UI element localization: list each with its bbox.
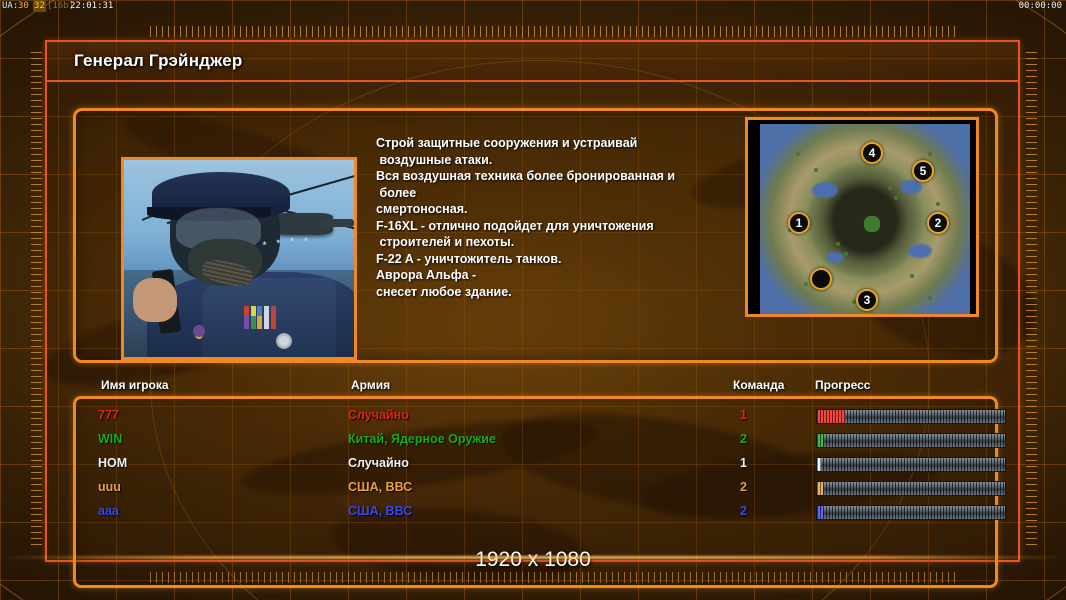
desc-line: Аврора Альфа - [376, 267, 796, 284]
desc-line: смертоносная. [376, 201, 796, 218]
table-row[interactable]: uuu США, ВВС 2 [76, 477, 995, 501]
map-spawn-marker[interactable]: 4 [861, 142, 883, 164]
desc-line: более [376, 185, 796, 202]
footer-glow-divider [0, 556, 1066, 559]
status-timer: 00:00:00 [1019, 0, 1062, 12]
player-name: WIN [98, 432, 122, 446]
ruler-right [1026, 52, 1037, 548]
map-preview[interactable]: 1 2 3 4 5 [745, 117, 979, 317]
player-army: США, ВВС [348, 480, 412, 494]
resolution-bar: 1920 x 1080 [0, 548, 1066, 578]
player-team: 2 [740, 480, 747, 494]
column-header-team: Команда [733, 378, 784, 392]
player-table-header: Имя игрока Армия Команда Прогресс [73, 374, 998, 396]
player-team: 2 [740, 432, 747, 446]
status-bar: UA: 30 32 [16b] 22:01:31 00:00:00 [0, 0, 1066, 12]
player-progress-bar [816, 433, 1006, 448]
status-clock: 22:01:31 [70, 0, 113, 12]
table-row[interactable]: aaa США, ВВС 2 [76, 501, 995, 525]
player-name: HOM [98, 456, 127, 470]
desc-line: Строй защитные сооружения и устраивай [376, 135, 796, 152]
table-row[interactable]: 777 Случайно 1 [76, 405, 995, 429]
ruler-left [31, 52, 42, 548]
desc-line: F-22 A - уничтожитель танков. [376, 251, 796, 268]
desc-line: воздушные атаки. [376, 152, 796, 169]
general-description: Строй защитные сооружения и устраивай во… [376, 135, 796, 300]
player-army: Случайно [348, 408, 409, 422]
map-spawn-marker[interactable]: 3 [856, 289, 878, 311]
map-spawn-marker[interactable]: 1 [788, 212, 810, 234]
player-progress-bar [816, 457, 1006, 472]
desc-line: Вся воздушная техника более бронированна… [376, 168, 796, 185]
player-name: aaa [98, 504, 119, 518]
player-team: 2 [740, 504, 747, 518]
column-header-progress: Прогресс [815, 378, 870, 392]
status-value-a: 30 [18, 0, 29, 12]
player-army: США, ВВС [348, 504, 412, 518]
general-info-panel: Строй защитные сооружения и устраивай во… [73, 108, 998, 363]
title-bar: Генерал Грэйнджер [47, 42, 1018, 82]
map-spawn-marker[interactable]: 5 [912, 160, 934, 182]
map-terrain: 1 2 3 4 5 [760, 124, 970, 316]
player-progress-bar [816, 481, 1006, 496]
player-army: Китай, Ядерное Оружие [348, 432, 496, 446]
table-row[interactable]: HOM Случайно 1 [76, 453, 995, 477]
player-name: 777 [98, 408, 119, 422]
desc-line: F-16XL - отлично подойдет для уничтожени… [376, 218, 796, 235]
player-army: Случайно [348, 456, 409, 470]
map-spawn-marker[interactable]: 2 [927, 212, 949, 234]
column-header-army: Армия [351, 378, 390, 392]
player-progress-bar [816, 505, 1006, 520]
page-title: Генерал Грэйнджер [74, 51, 242, 71]
player-name: uuu [98, 480, 121, 494]
status-label: UA: [2, 0, 18, 12]
player-team: 1 [740, 408, 747, 422]
lobby-frame: Генерал Грэйнджер [45, 40, 1020, 562]
desc-line: снесет любое здание. [376, 284, 796, 301]
status-value-b: 32 [33, 0, 46, 12]
player-progress-bar [816, 409, 1006, 424]
map-spawn-marker-empty[interactable] [810, 268, 832, 290]
table-row[interactable]: WIN Китай, Ядерное Оружие 2 [76, 429, 995, 453]
resolution-label: 1920 x 1080 [475, 548, 591, 571]
player-team: 1 [740, 456, 747, 470]
column-header-name: Имя игрока [101, 378, 169, 392]
desc-line: строителей и пехоты. [376, 234, 796, 251]
general-portrait [121, 157, 357, 360]
ruler-top [150, 26, 960, 37]
